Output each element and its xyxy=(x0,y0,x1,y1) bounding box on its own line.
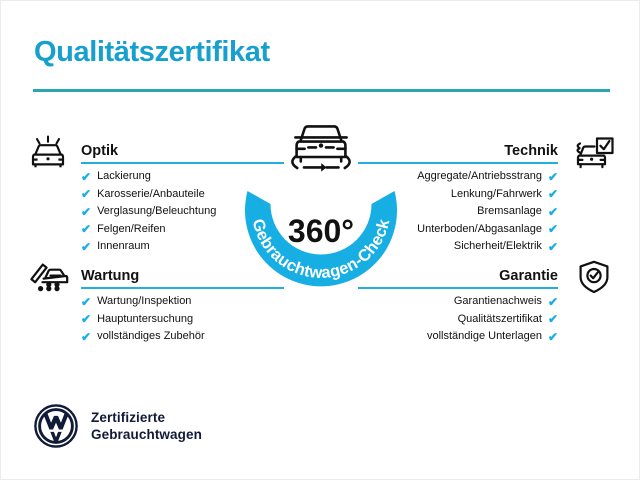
oil-dipstick-car-icon xyxy=(26,257,70,297)
list-item: ✔vollständiges Zubehör xyxy=(26,328,284,346)
vw-footer-text: Zertifizierte Gebrauchtwagen xyxy=(91,409,202,443)
check-icon: ✔ xyxy=(81,313,91,325)
check-icon: ✔ xyxy=(548,313,558,325)
section-wartung-title: Wartung xyxy=(81,268,139,284)
vw-footer-line1: Zertifizierte xyxy=(91,409,202,426)
car-shine-icon xyxy=(26,132,70,172)
list-item-label: Unterboden/Abgasanlage xyxy=(417,221,542,239)
list-item-label: vollständiges Zubehör xyxy=(97,328,205,346)
section-garantie-title: Garantie xyxy=(499,268,558,284)
badge-center-label: 360° xyxy=(223,213,419,250)
check-icon: ✔ xyxy=(548,188,558,200)
list-item-label: Aggregate/Antriebsstrang xyxy=(417,168,542,186)
list-item-label: Garantienachweis xyxy=(454,293,542,311)
check-icon: ✔ xyxy=(81,206,91,218)
check-icon: ✔ xyxy=(548,241,558,253)
list-item-label: Bremsanlage xyxy=(477,203,542,221)
list-item: vollständige Unterlagen✔ xyxy=(358,328,616,346)
check-icon: ✔ xyxy=(548,296,558,308)
check-icon: ✔ xyxy=(548,171,558,183)
check-icon: ✔ xyxy=(548,331,558,343)
car-checkbox-icon xyxy=(572,132,616,172)
check-icon: ✔ xyxy=(548,223,558,235)
check-icon: ✔ xyxy=(81,171,91,183)
check-icon: ✔ xyxy=(81,331,91,343)
page-title: Qualitätszertifikat xyxy=(34,36,270,69)
list-item-label: Sicherheit/Elektrik xyxy=(454,238,542,256)
vw-footer-line2: Gebrauchtwagen xyxy=(91,426,202,443)
list-item-label: Wartung/Inspektion xyxy=(97,293,191,311)
list-item-label: vollständige Unterlagen xyxy=(427,328,542,346)
check-icon: ✔ xyxy=(81,241,91,253)
check-icon: ✔ xyxy=(548,206,558,218)
badge-360-gebrauchtwagen-check: Gebrauchtwagen-Check 360° xyxy=(223,119,419,319)
list-item-label: Verglasung/Beleuchtung xyxy=(97,203,216,221)
list-item-label: Felgen/Reifen xyxy=(97,221,166,239)
check-icon: ✔ xyxy=(81,188,91,200)
list-item-label: Karosserie/Anbauteile xyxy=(97,186,205,204)
check-icon: ✔ xyxy=(81,296,91,308)
section-technik-title: Technik xyxy=(504,143,558,159)
list-item-label: Innenraum xyxy=(97,238,150,256)
list-item-label: Lackierung xyxy=(97,168,151,186)
section-optik-title: Optik xyxy=(81,143,118,159)
certificate-page: Qualitätszertifikat xyxy=(0,0,640,480)
list-item-label: Qualitätszertifikat xyxy=(458,311,542,329)
list-item-label: Hauptuntersuchung xyxy=(97,311,193,329)
vw-logo-icon xyxy=(34,404,78,448)
list-item-label: Lenkung/Fahrwerk xyxy=(451,186,542,204)
check-icon: ✔ xyxy=(81,223,91,235)
vw-certified-footer: Zertifizierte Gebrauchtwagen xyxy=(34,404,202,448)
shield-check-icon xyxy=(572,257,616,297)
title-divider xyxy=(33,89,610,92)
